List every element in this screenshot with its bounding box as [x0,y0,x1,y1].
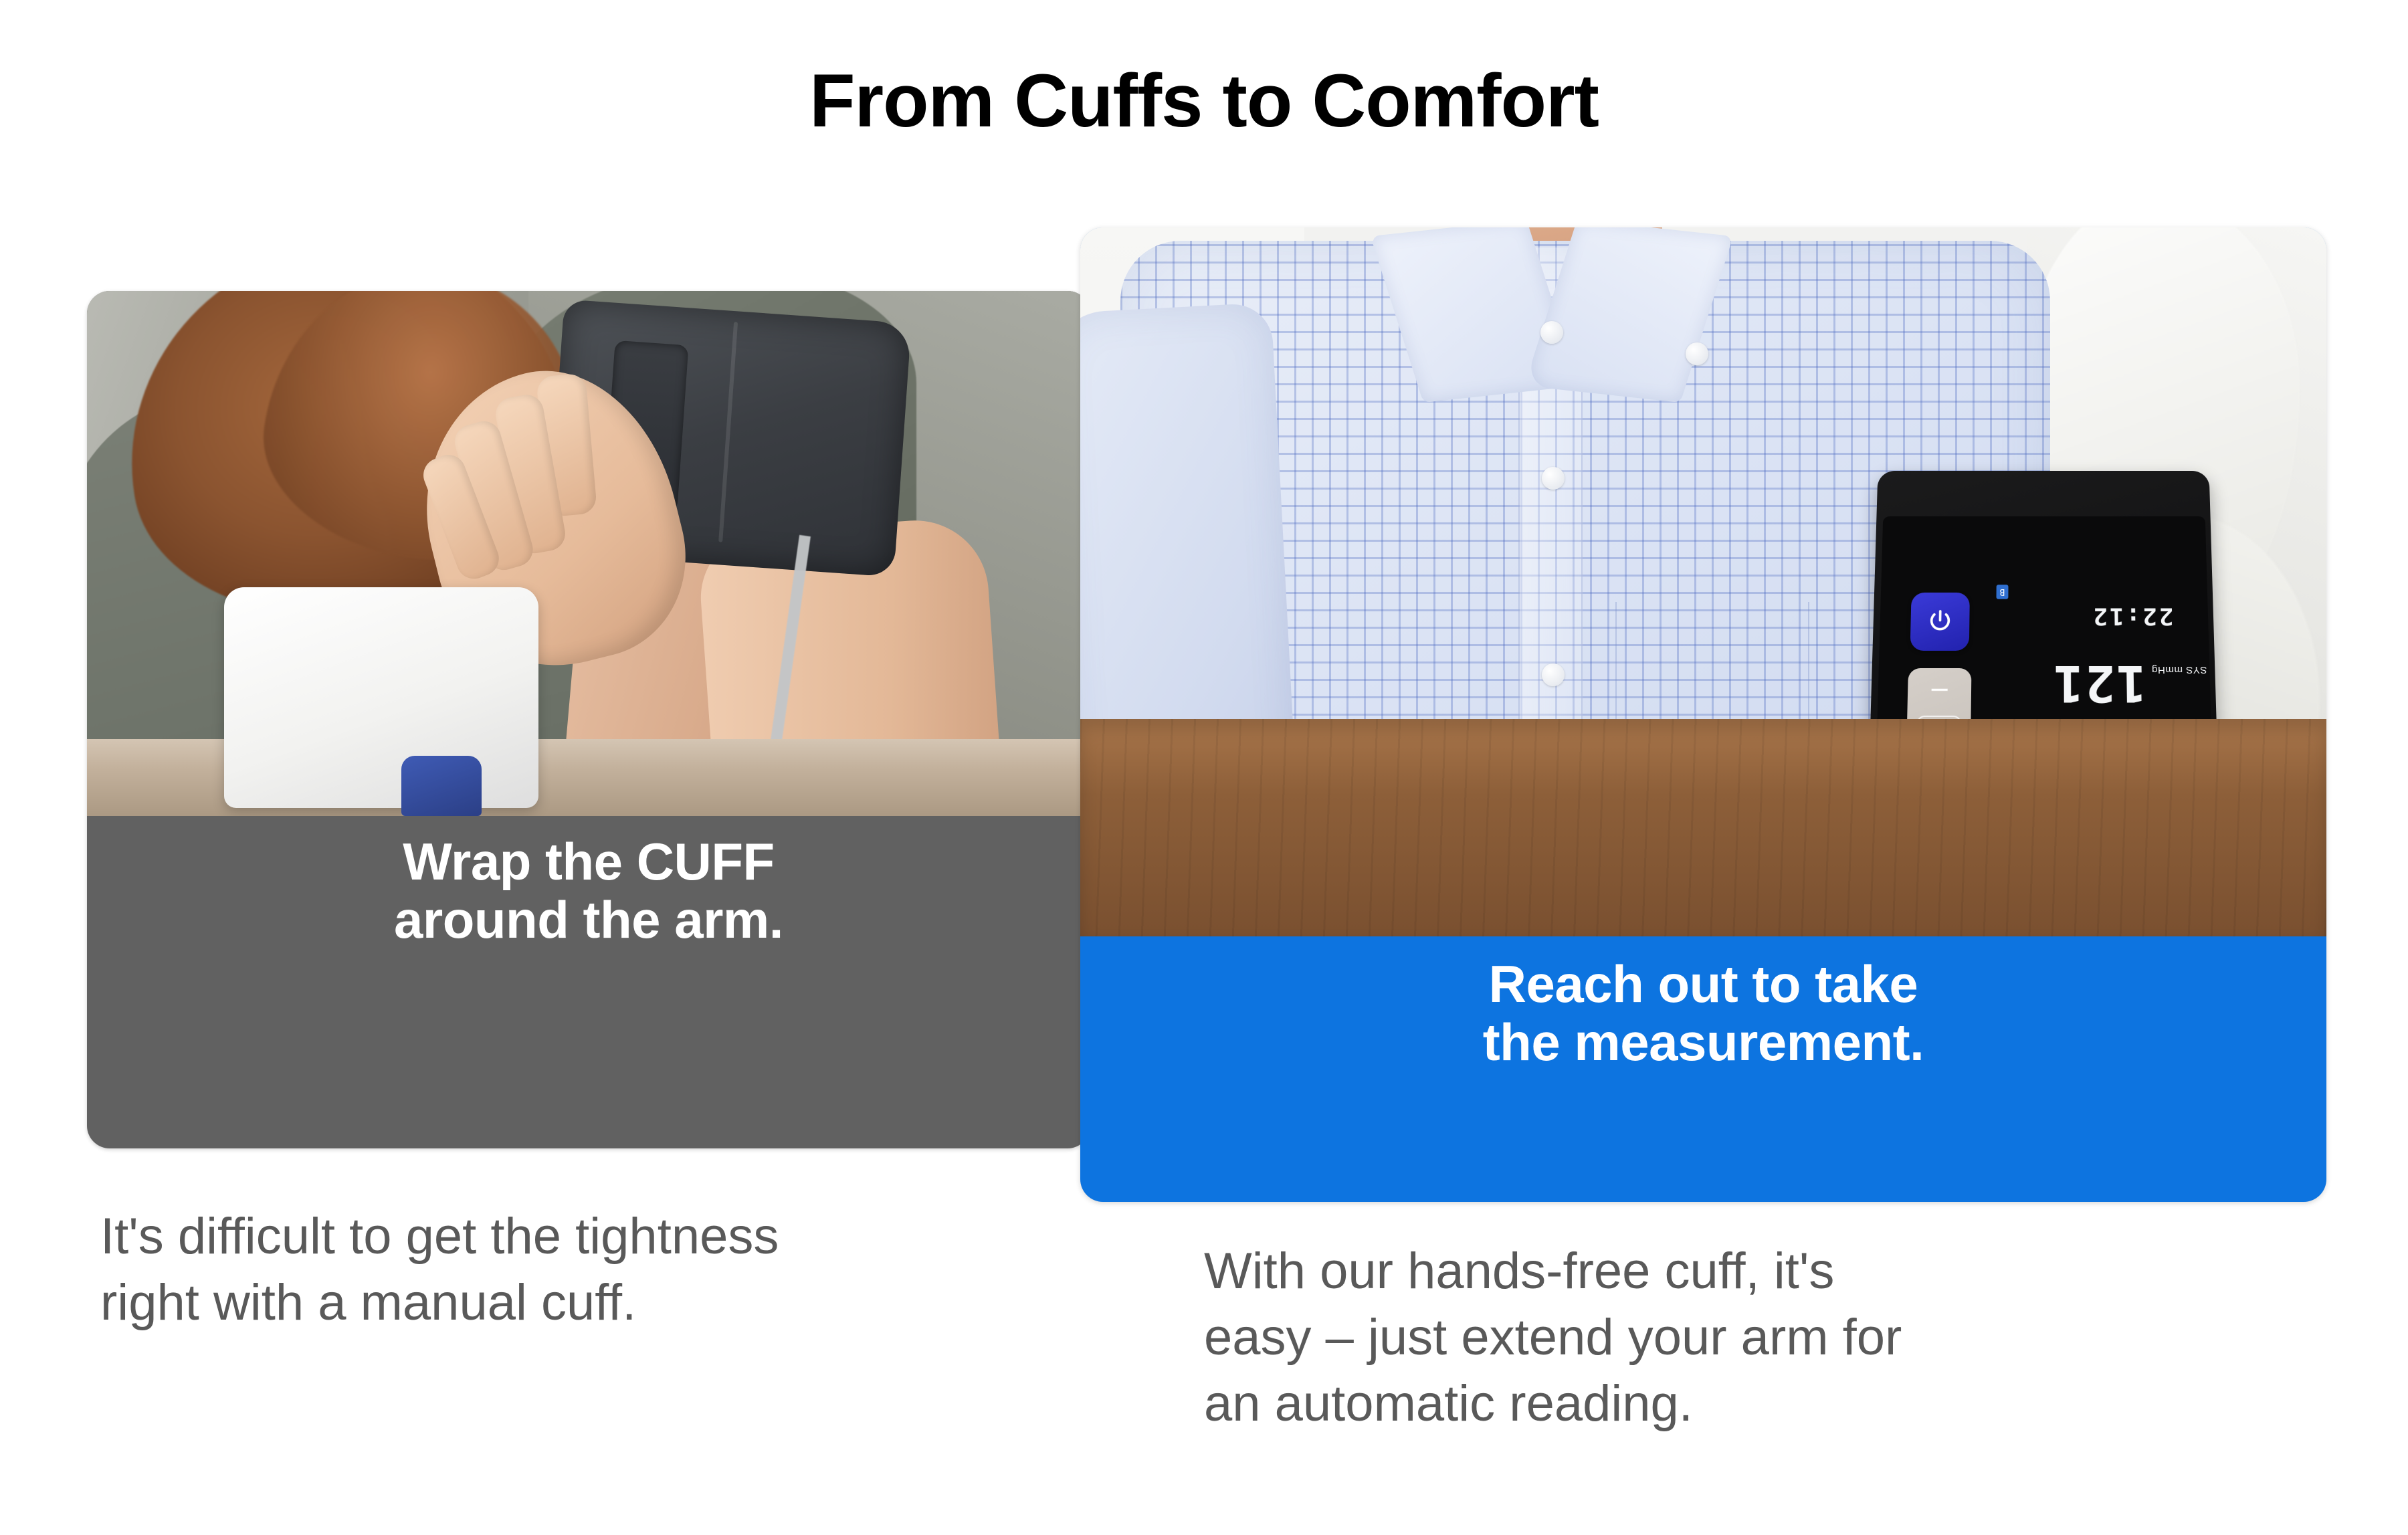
caption-right: Reach out to take the measurement. [1080,955,2326,1072]
lcd-sys-value: 121 [2052,662,2146,703]
bp-monitor-unit [224,587,538,808]
body-text-left: It's difficult to get the tightness righ… [100,1204,1144,1336]
cuff-seam [718,322,738,542]
shirt-button-1 [1542,467,1565,490]
body-text-right: With our hands-free cuff, it's easy – ju… [1204,1239,2288,1437]
right-table [1080,719,2326,936]
page-title: From Cuffs to Comfort [0,62,2408,140]
minus-button[interactable]: − [1928,676,1950,702]
power-icon [1925,607,1955,636]
photo-manual-cuff [87,291,1090,816]
caption-left: Wrap the CUFF around the arm. [87,833,1090,950]
lcd-time: 22:12 [2091,603,2174,629]
lcd-sys-unit: SYS mmHg [2151,665,2207,675]
table-wood-grain [1080,719,2326,936]
shirt-button-collar-right [1686,342,1708,365]
left-photo-scene [87,291,1090,816]
shirt-button-collar-left [1540,321,1563,344]
panel-right: − + [1080,227,2326,1202]
power-button[interactable] [1910,593,1970,651]
bp-monitor-blue-button [401,756,482,816]
right-photo-scene: − + [1080,227,2326,936]
panel-left: Wrap the CUFF around the arm. [87,291,1090,1148]
photo-hands-free-device: − + [1080,227,2326,936]
lcd-sys-row: SYS mmHg 121 [2052,662,2208,703]
poster-root: From Cuffs to Comfort [0,0,2408,1535]
shirt-button-2 [1542,663,1565,686]
bluetooth-icon: B [1996,585,2008,599]
